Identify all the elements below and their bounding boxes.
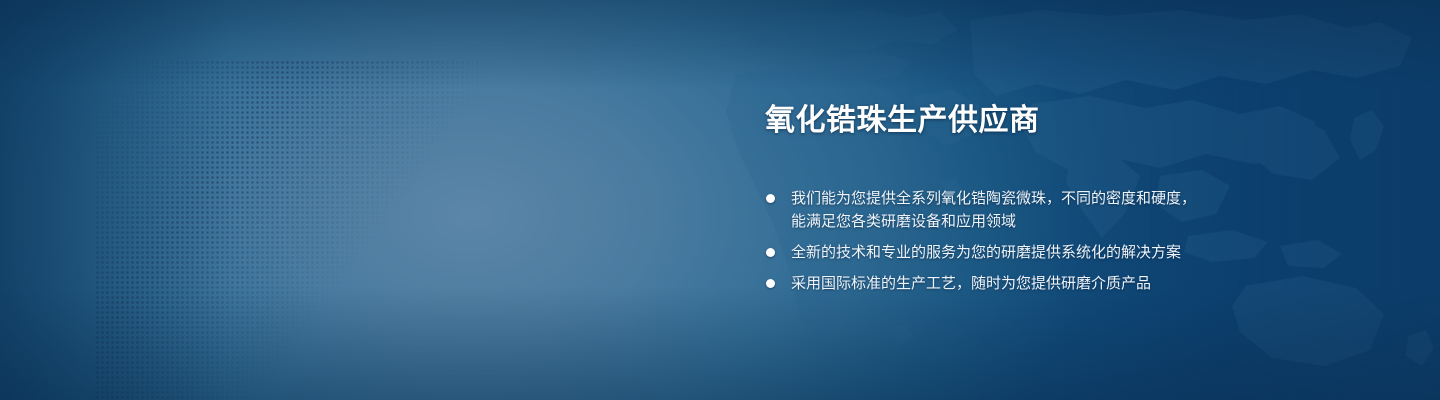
list-item-line-1: 采用国际标准的生产工艺，随时为您提供研磨介质产品 [791, 275, 1151, 292]
list-item-line-1: 全新的技术和专业的服务为您的研磨提供系统化的解决方案 [791, 244, 1181, 261]
bullet-dot-icon [766, 248, 775, 257]
bullet-dot-icon [766, 279, 775, 288]
list-item: 全新的技术和专业的服务为您的研磨提供系统化的解决方案 [765, 241, 1405, 264]
hero-banner: 氧化锆珠生产供应商 我们能为您提供全系列氧化锆陶瓷微珠，不同的密度和硬度， 能满… [0, 0, 1440, 400]
list-item-line-1: 我们能为您提供全系列氧化锆陶瓷微珠，不同的密度和硬度， [791, 190, 1196, 207]
page-title: 氧化锆珠生产供应商 [765, 104, 1405, 137]
list-item: 采用国际标准的生产工艺，随时为您提供研磨介质产品 [765, 272, 1405, 295]
bullet-dot-icon [766, 194, 775, 203]
list-item: 我们能为您提供全系列氧化锆陶瓷微珠，不同的密度和硬度， 能满足您各类研磨设备和应… [765, 187, 1405, 233]
list-item-line-2: 能满足您各类研磨设备和应用领域 [791, 210, 1405, 233]
benefits-list: 我们能为您提供全系列氧化锆陶瓷微珠，不同的密度和硬度， 能满足您各类研磨设备和应… [765, 187, 1405, 295]
banner-copy: 氧化锆珠生产供应商 我们能为您提供全系列氧化锆陶瓷微珠，不同的密度和硬度， 能满… [765, 104, 1405, 295]
